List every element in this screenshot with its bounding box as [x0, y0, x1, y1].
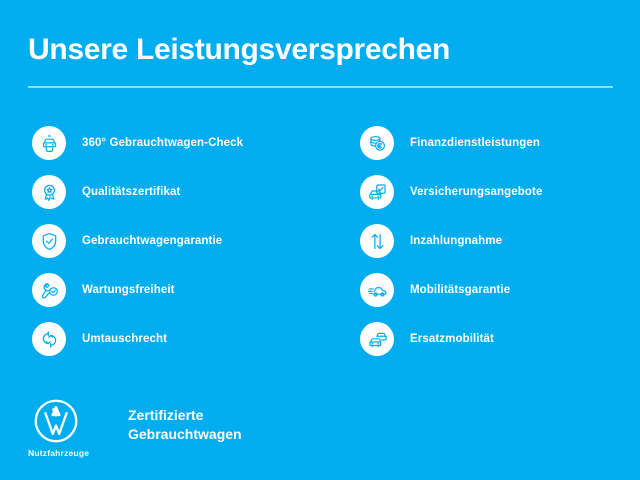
- page-title: Unsere Leistungsversprechen: [28, 33, 450, 66]
- benefit-item-inzahlungnahme[interactable]: Inzahlungnahme: [360, 224, 635, 258]
- benefit-item-umtauschrecht[interactable]: Umtauschrecht: [32, 322, 332, 356]
- benefit-item-ersatzmobilitaet[interactable]: Ersatzmobilität: [360, 322, 635, 356]
- benefit-label: Wartungsfreiheit: [82, 284, 175, 296]
- benefit-label: Gebrauchtwagengarantie: [82, 235, 222, 247]
- award-rosette-icon: [32, 175, 66, 209]
- slide-canvas: Unsere Leistungsversprechen 360° Gebrauc…: [0, 0, 640, 480]
- benefits-column-right: Finanzdienstleistungen Versicherungsange…: [360, 126, 635, 371]
- car-inspection-icon: [32, 126, 66, 160]
- two-cars-icon: [360, 322, 394, 356]
- up-down-arrows-icon: [360, 224, 394, 258]
- coins-euro-icon: [360, 126, 394, 160]
- footer: Nutzfahrzeuge Zertifizierte Gebrauchtwag…: [28, 398, 242, 458]
- benefit-item-wartungsfreiheit[interactable]: Wartungsfreiheit: [32, 273, 332, 307]
- vw-logo-wordmark: Nutzfahrzeuge: [28, 448, 100, 458]
- benefit-item-qualitaetszertifikat[interactable]: Qualitätszertifikat: [32, 175, 332, 209]
- benefit-item-gebrauchtwagengarantie[interactable]: Gebrauchtwagengarantie: [32, 224, 332, 258]
- benefit-label: Inzahlungnahme: [410, 235, 502, 247]
- vw-roundel-icon: [33, 398, 79, 444]
- vw-logo: Nutzfahrzeuge: [28, 398, 100, 458]
- benefit-item-finanzdienstleistungen[interactable]: Finanzdienstleistungen: [360, 126, 635, 160]
- shield-check-icon: [32, 224, 66, 258]
- benefit-item-mobilitaetsgarantie[interactable]: Mobilitätsgarantie: [360, 273, 635, 307]
- footer-headline-line1: Zertifizierte: [128, 406, 242, 425]
- benefits-column-left: 360° Gebrauchtwagen-Check Qualitätszerti…: [32, 126, 332, 371]
- title-divider: [28, 86, 613, 88]
- wrench-check-icon: [32, 273, 66, 307]
- benefit-item-gebrauchtwagen-check[interactable]: 360° Gebrauchtwagen-Check: [32, 126, 332, 160]
- footer-headline-line2: Gebrauchtwagen: [128, 425, 242, 444]
- footer-headline: Zertifizierte Gebrauchtwagen: [128, 406, 242, 444]
- car-document-check-icon: [360, 175, 394, 209]
- benefit-label: Mobilitätsgarantie: [410, 284, 510, 296]
- car-motion-icon: [360, 273, 394, 307]
- benefit-label: Qualitätszertifikat: [82, 186, 180, 198]
- benefit-label: Umtauschrecht: [82, 333, 167, 345]
- exchange-arrows-icon: [32, 322, 66, 356]
- benefit-label: Finanzdienstleistungen: [410, 137, 540, 149]
- benefit-label: Ersatzmobilität: [410, 333, 494, 345]
- benefit-label: 360° Gebrauchtwagen-Check: [82, 137, 243, 149]
- benefit-item-versicherungsangebote[interactable]: Versicherungsangebote: [360, 175, 635, 209]
- benefit-label: Versicherungsangebote: [410, 186, 542, 198]
